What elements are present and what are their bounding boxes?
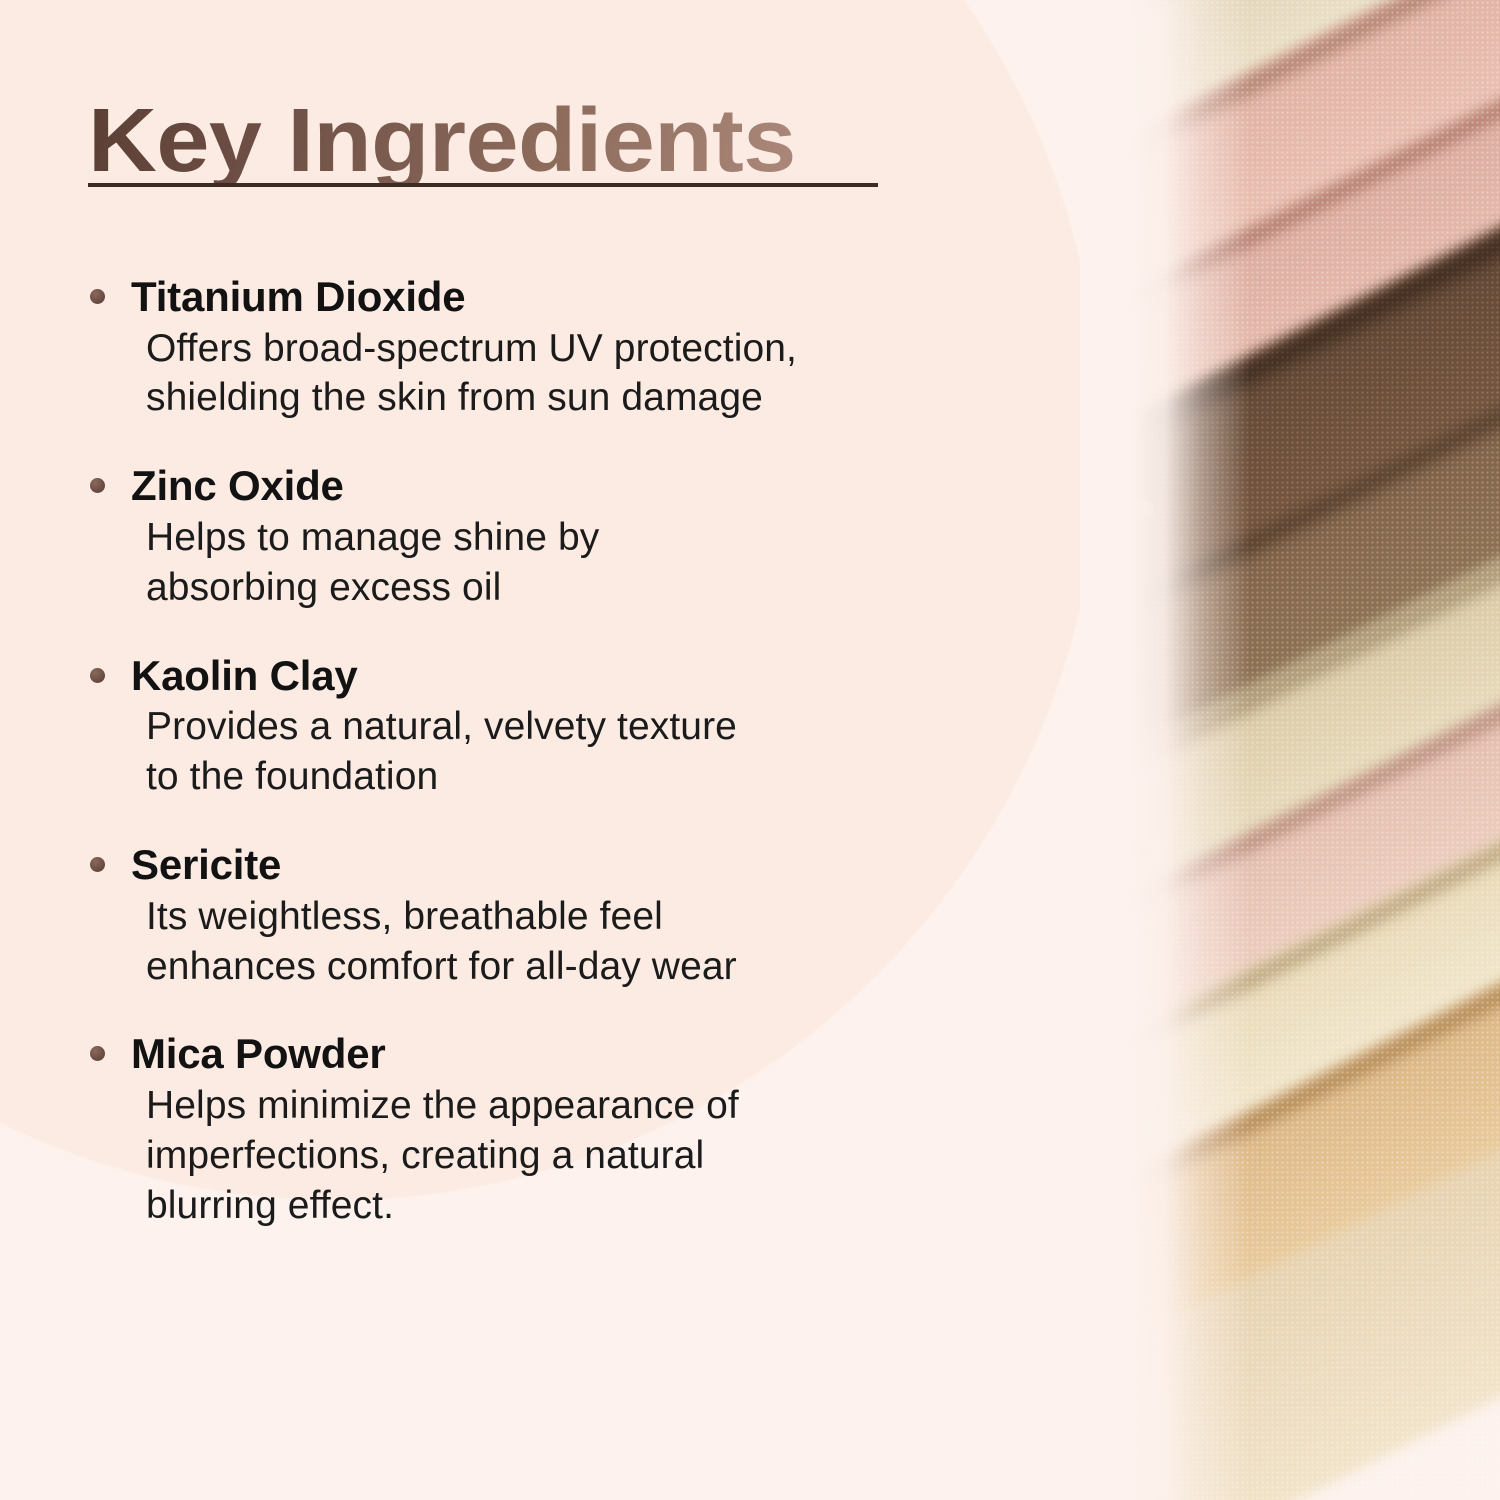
powder-speck [1098,300,1120,314]
ingredient-description: Helps minimize the appearance of imperfe… [146,1081,990,1231]
ingredient-name: Titanium Dioxide [131,272,465,322]
list-item: Sericite Its weightless, breathable feel… [90,840,990,991]
ingredient-heading-row: Kaolin Clay [90,651,990,701]
ingredient-list: Titanium Dioxide Offers broad-spectrum U… [90,272,990,1231]
powder-speck [1124,1000,1152,1018]
powder-speck [1092,760,1112,773]
powder-speck [1126,1340,1156,1359]
poster-canvas: Key Ingredients Titanium Dioxide Offers … [0,0,1500,1500]
bullet-dot-icon [90,857,105,872]
ingredient-heading-row: Mica Powder [90,1029,990,1079]
powder-speck [1124,500,1154,519]
ingredient-description: Offers broad-spectrum UV protection, shi… [146,324,990,424]
list-item: Mica Powder Helps minimize the appearanc… [90,1029,990,1230]
powder-speck [1128,205,1158,225]
ingredient-description: Its weightless, breathable feel enhances… [146,892,990,992]
ingredient-name: Sericite [131,840,281,890]
powder-speck [1100,610,1124,625]
powder-speck [1094,1090,1114,1103]
ingredient-description: Helps to manage shine by absorbing exces… [146,513,990,613]
list-item: Zinc Oxide Helps to manage shine by abso… [90,461,990,612]
list-item: Titanium Dioxide Offers broad-spectrum U… [90,272,990,423]
ingredient-name: Zinc Oxide [131,461,344,511]
ingredient-description: Provides a natural, velvety texture to t… [146,702,990,802]
page-title-wrapper: Key Ingredients [88,96,888,186]
powder-speck [1092,160,1110,171]
bullet-dot-icon [90,668,105,683]
bullet-dot-icon [90,1046,105,1061]
powder-swatch-image [1080,0,1500,1500]
ingredient-heading-row: Zinc Oxide [90,461,990,511]
page-title: Key Ingredients [88,96,936,186]
bullet-dot-icon [90,289,105,304]
list-item: Kaolin Clay Provides a natural, velvety … [90,651,990,802]
content-column: Key Ingredients Titanium Dioxide Offers … [0,0,1060,1500]
powder-speck [1094,440,1114,452]
powder-speck [1098,930,1120,944]
powder-speck [1100,1430,1122,1444]
ingredient-heading-row: Titanium Dioxide [90,272,990,322]
page-title-underline [88,183,878,187]
powder-speck [1120,360,1146,377]
bullet-dot-icon [90,478,105,493]
ingredient-heading-row: Sericite [90,840,990,890]
ingredient-name: Mica Powder [131,1029,386,1079]
powder-speck [1122,840,1150,858]
powder-speck [1126,675,1154,693]
ingredient-name: Kaolin Clay [131,651,358,701]
powder-speck [1096,1260,1118,1274]
powder-speck [1110,90,1136,106]
powder-speck [1120,1160,1148,1178]
